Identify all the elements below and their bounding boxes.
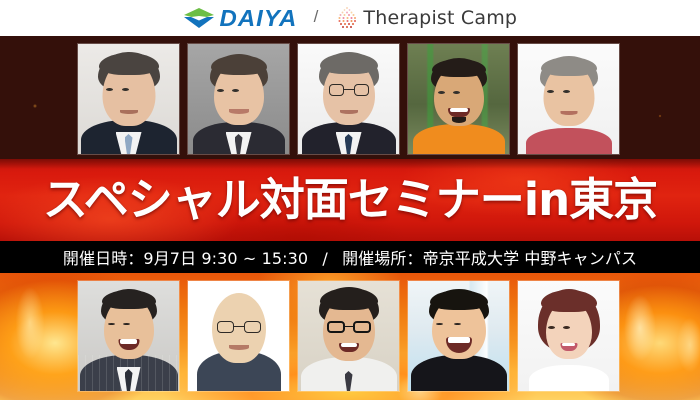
speaker-photo-8 [298, 281, 399, 391]
daiya-diamond-mark [183, 7, 215, 29]
therapist-camp-logo: Therapist Camp [336, 6, 517, 30]
speaker-photo-10 [518, 281, 619, 391]
event-info-separator: / [313, 249, 337, 268]
speaker-photo-row-bottom [78, 281, 619, 391]
brand-header: DAIYA / Therapist Camp [0, 0, 700, 36]
page-title: スペシャル対面セミナーin東京 [43, 177, 657, 222]
event-venue-label: 開催場所：帝京平成大学 中野キャンパス [342, 249, 637, 268]
speaker-photo-2 [188, 44, 289, 154]
event-date-label: 開催日時：9月7日 9:30 ~ 15:30 [63, 249, 308, 268]
speaker-photo-3 [298, 44, 399, 154]
speaker-photo-9 [408, 281, 509, 391]
speaker-photo-4 [408, 44, 509, 154]
therapist-camp-wordmark: Therapist Camp [363, 7, 517, 29]
event-info-bar: 開催日時：9月7日 9:30 ~ 15:30 / 開催場所：帝京平成大学 中野キ… [0, 241, 700, 273]
speaker-photo-6 [78, 281, 179, 391]
eyeglasses-icon [327, 321, 371, 333]
eyeglasses-icon [329, 84, 369, 96]
brand-separator: / [310, 7, 323, 27]
speaker-photo-row-top [78, 44, 619, 154]
daiya-logo: DAIYA [183, 5, 296, 32]
daiya-wordmark: DAIYA [219, 5, 297, 32]
seminar-title-banner: スペシャル対面セミナーin東京 [0, 159, 700, 241]
speaker-photo-5 [518, 44, 619, 154]
eyeglasses-icon [217, 321, 261, 333]
seminar-poster: DAIYA / Therapist Camp [0, 0, 700, 400]
speaker-photo-1 [78, 44, 179, 154]
speaker-photo-7 [188, 281, 289, 391]
therapist-camp-dot-flame-mark [336, 6, 358, 30]
event-info-text: 開催日時：9月7日 9:30 ~ 15:30 / 開催場所：帝京平成大学 中野キ… [63, 245, 637, 269]
